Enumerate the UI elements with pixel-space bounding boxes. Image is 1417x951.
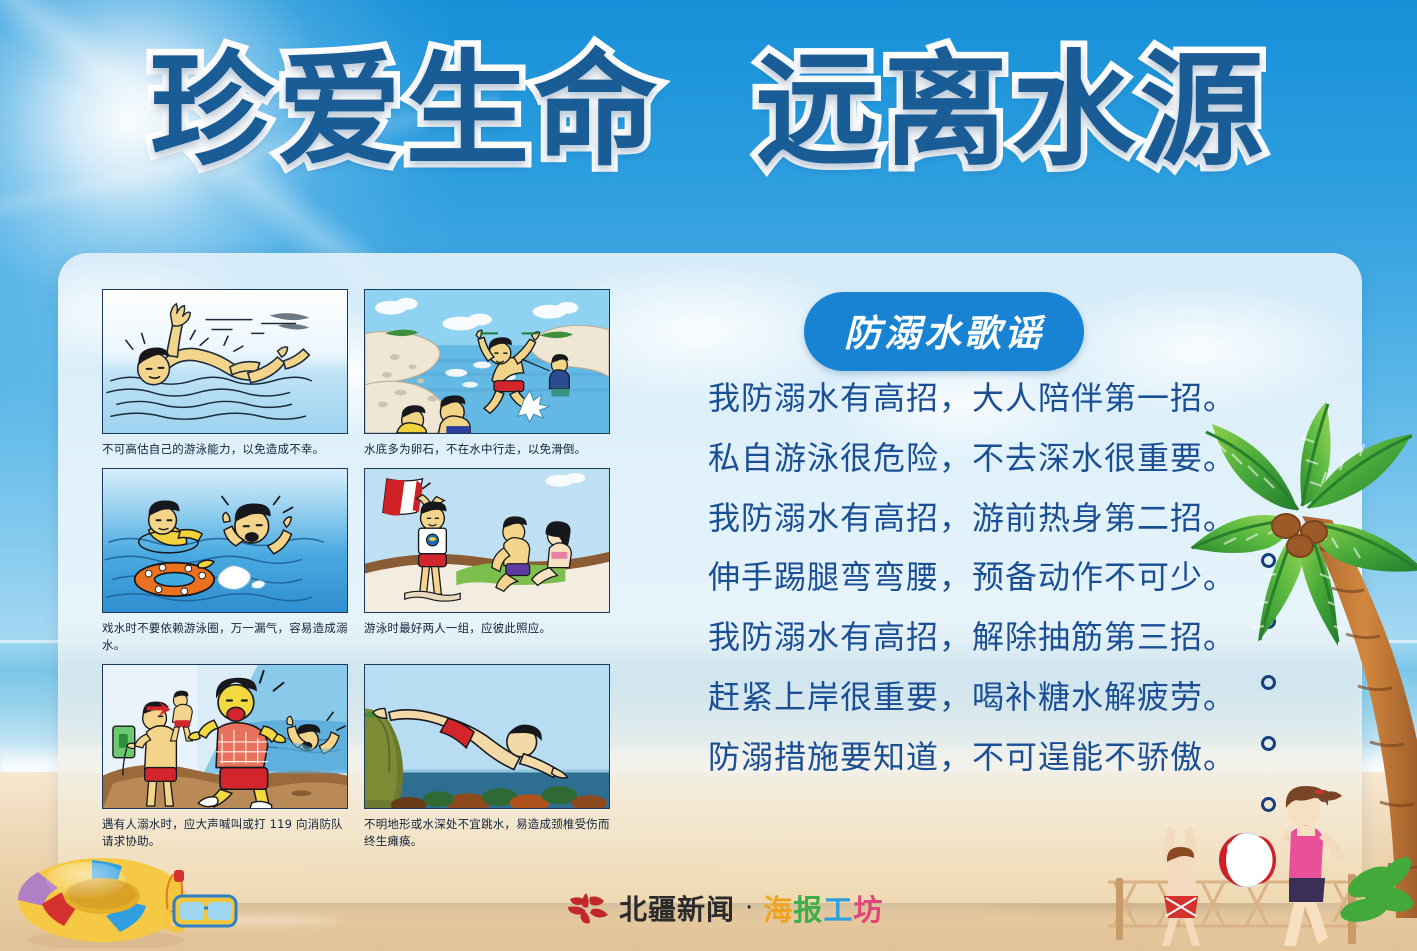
seal-icon — [566, 891, 610, 925]
rhyme-line: 赶紧上岸很重要，喝补糖水解疲劳。 — [708, 680, 1308, 716]
panel-caption: 戏水时不要依赖游泳圈，万一漏气，容易造成溺水。 — [102, 620, 350, 654]
comic-cell: 不可高估自己的游泳能力，以免造成不幸。 — [102, 289, 350, 458]
panel-swim-in-pairs — [364, 468, 610, 613]
title-line-1: 珍爱生命 — [149, 39, 661, 183]
rhyme-line: 我防溺水有高招，大人陪伴第一招。 — [708, 381, 1308, 417]
comic-cell: 水底多为卵石，不在水中行走，以免滑倒。 — [364, 289, 612, 458]
title-line-2: 远离水源 — [756, 39, 1268, 183]
panel-swim-ring-leak — [102, 468, 348, 613]
safety-comic-grid: 不可高估自己的游泳能力，以免造成不幸。 — [102, 289, 662, 850]
footer-logo: 北疆新闻 · 海报工坊 — [566, 884, 883, 932]
sand-texture — [40, 916, 340, 925]
panel-no-diving-unknown — [364, 664, 610, 809]
poster-canvas: 珍爱生命 远离水源 — [0, 0, 1417, 951]
poster-title: 珍爱生命 远离水源 — [0, 46, 1417, 177]
rhyme-line: 私自游泳很危险，不去深水很重要。 — [708, 441, 1308, 477]
studio-name: 海报工坊 — [763, 887, 883, 929]
comic-cell: 戏水时不要依赖游泳圈，万一漏气，容易造成溺水。 — [102, 468, 350, 654]
comic-cell: 不明地形或水深处不宜跳水，易造成颈椎受伤而终生瘫痪。 — [364, 664, 612, 850]
panel-call-119 — [102, 664, 348, 809]
rhyme-line: 我防溺水有高招，游前热身第二招。 — [708, 501, 1308, 537]
panel-caption: 不可高估自己的游泳能力，以免造成不幸。 — [102, 441, 350, 458]
comic-cell: 游泳时最好两人一组，应彼此照应。 — [364, 468, 612, 654]
separator-dot: · — [745, 893, 753, 923]
publisher-name: 北疆新闻 — [619, 888, 735, 928]
dot — [1261, 797, 1276, 812]
comic-cell: 遇有人溺水时，应大声喊叫或打 119 向消防队请求协助。 — [102, 664, 350, 850]
rhyme-badge: 防溺水歌谣 — [804, 292, 1084, 371]
panel-pebble-riverbed — [364, 289, 610, 434]
panel-caption: 遇有人溺水时，应大声喊叫或打 119 向消防队请求协助。 — [102, 816, 350, 850]
panel-overestimate-ability — [102, 289, 348, 434]
panel-caption: 水底多为卵石，不在水中行走，以免滑倒。 — [364, 441, 612, 458]
rhyme-line: 伸手踢腿弯弯腰，预备动作不可少。 — [708, 560, 1308, 596]
rhyme-line: 我防溺水有高招，解除抽筋第三招。 — [708, 620, 1308, 656]
panel-caption: 不明地形或水深处不宜跳水，易造成颈椎受伤而终生瘫痪。 — [364, 816, 612, 850]
panel-caption: 游泳时最好两人一组，应彼此照应。 — [364, 620, 612, 637]
content-card: 不可高估自己的游泳能力，以免造成不幸。 — [58, 253, 1362, 903]
rhyme-line: 防溺措施要知道，不可逞能不骄傲。 — [708, 740, 1308, 776]
rhyme-list: 我防溺水有高招，大人陪伴第一招。 私自游泳很危险，不去深水很重要。 我防溺水有高… — [708, 381, 1308, 776]
